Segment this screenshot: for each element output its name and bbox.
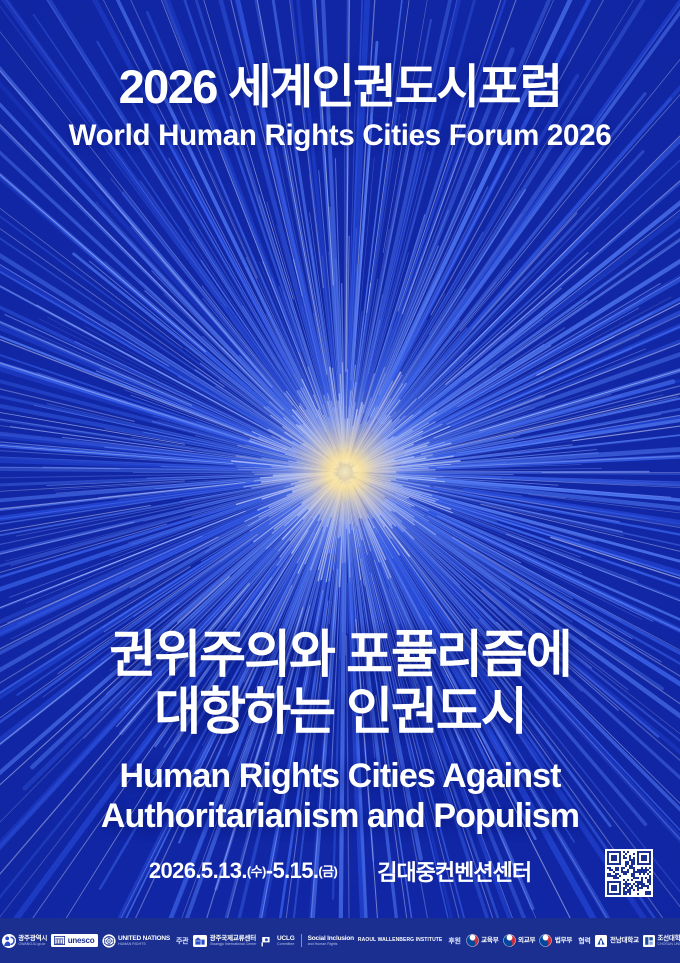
- logo-text-uclg-committee: UCLGCommittee: [277, 935, 295, 946]
- logo-group-label: 후원: [448, 936, 460, 946]
- logo-text-uclg-partner: Social Inclusionand Human Rights: [308, 935, 354, 946]
- theme-ko-line-1: 권위주의와 포퓰리즘에: [0, 627, 680, 684]
- logo-chonnam-national-university[interactable]: 전남대학교: [595, 935, 638, 947]
- taegeuk-icon: [539, 934, 552, 947]
- logo-uclg-committee[interactable]: UCLGCommittee: [261, 934, 295, 948]
- poster-canvas: 2026 세계인권도시포럼 World Human Rights Cities …: [0, 0, 680, 963]
- date-start: 2026.5.13.: [149, 858, 247, 883]
- uclg-icon: [261, 934, 275, 948]
- logo-gwangju-metropolitan-city[interactable]: 광주광역시GWANGJU.go.kr: [2, 934, 47, 948]
- event-venue: 김대중컨벤션센터: [377, 855, 531, 887]
- logo-subtext-gwangju-metropolitan-city: GWANGJU.go.kr: [18, 942, 47, 946]
- logo-chosun-university[interactable]: 조선대학교CHOSUN UNIVERSITY: [643, 935, 680, 947]
- logo-gwangju-international-center[interactable]: 광주국제교류센터Gwangju International Center: [193, 934, 256, 948]
- logo-group-label: 주관: [176, 936, 188, 946]
- logo-uclg-partner[interactable]: Social Inclusionand Human Rights: [308, 935, 354, 946]
- logo-text-chosun-university: 조선대학교CHOSUN UNIVERSITY: [657, 935, 680, 946]
- logo-subtext-uclg-partner: and Human Rights: [308, 942, 354, 946]
- logo-text-gwangju-international-center: 광주국제교류센터Gwangju International Center: [210, 935, 257, 946]
- logo-text-unesco: unesco: [68, 936, 95, 945]
- logo-un-human-rights[interactable]: UNITED NATIONSHUMAN RIGHTS: [102, 934, 170, 948]
- gic-icon: [193, 934, 207, 948]
- theme-ko-line-2: 대항하는 인권도시: [0, 684, 680, 741]
- date-start-dayofweek: (수): [247, 864, 266, 879]
- logo-subtext-gwangju-international-center: Gwangju International Center: [210, 942, 257, 946]
- logo-divider: [301, 934, 302, 947]
- logo-group-주관: 주관광주국제교류센터Gwangju International CenterUC…: [176, 934, 442, 948]
- date-end-dayofweek: (금): [318, 864, 337, 879]
- chosun-icon: [643, 935, 655, 947]
- theme-title-ko: 권위주의와 포퓰리즘에 대항하는 인권도시: [0, 627, 680, 740]
- logo-ministry-of-education[interactable]: 교육부: [466, 934, 499, 947]
- taegeuk-icon: [466, 934, 479, 947]
- logo-group-주최: 주최광주광역시GWANGJU.go.krunescoUNITED NATIONS…: [0, 934, 170, 948]
- logo-ministry-of-justice[interactable]: 법무부: [539, 934, 572, 947]
- logo-subtext-chosun-university: CHOSUN UNIVERSITY: [657, 942, 680, 946]
- theme-title-en: Human Rights Cities Against Authoritaria…: [0, 757, 680, 837]
- theme-en-line-1: Human Rights Cities Against: [0, 757, 680, 797]
- logo-group-후원: 후원교육부외교부법무부: [448, 934, 572, 947]
- logo-ministry-of-foreign-affairs[interactable]: 외교부: [503, 934, 536, 947]
- date-end: 5.15.: [272, 858, 318, 883]
- event-date: 2026.5.13.(수)-5.15.(금): [149, 858, 337, 884]
- logo-text-ministry-of-justice: 법무부: [555, 937, 572, 944]
- page-title-en: World Human Rights Cities Forum 2026: [0, 120, 680, 152]
- taegeuk-icon: [503, 934, 516, 947]
- logo-text-chonnam-national-university: 전남대학교: [610, 937, 639, 944]
- event-info-row: 2026.5.13.(수)-5.15.(금) 김대중컨벤션센터: [0, 853, 680, 889]
- cnu-icon: [595, 935, 607, 947]
- qr-code-image: [607, 851, 651, 895]
- unesco-temple-icon: [54, 936, 65, 945]
- page-title-ko: 2026 세계인권도시포럼: [0, 62, 680, 112]
- logo-text-ministry-of-education: 교육부: [481, 937, 498, 944]
- logo-text-gwangju-metropolitan-city: 광주광역시GWANGJU.go.kr: [18, 935, 47, 946]
- partner-logo-bar: 주최광주광역시GWANGJU.go.krunescoUNITED NATIONS…: [0, 918, 680, 963]
- theme-en-line-2: Authoritarianism and Populism: [0, 797, 680, 837]
- logo-subtext-uclg-committee: Committee: [277, 942, 295, 946]
- logo-text-raoul-wallenberg-institute: RAOUL WALLENBERG INSTITUTE: [358, 937, 442, 943]
- logo-unesco[interactable]: unesco: [51, 934, 97, 947]
- poster-content: 2026 세계인권도시포럼 World Human Rights Cities …: [0, 0, 680, 963]
- logo-text-un-human-rights: UNITED NATIONSHUMAN RIGHTS: [118, 935, 170, 946]
- qr-code[interactable]: [605, 849, 653, 897]
- logo-subtext-un-human-rights: HUMAN RIGHTS: [118, 942, 170, 946]
- gwangju-icon: [2, 934, 16, 948]
- logo-text-ministry-of-foreign-affairs: 외교부: [518, 937, 535, 944]
- logo-group-label: 협력: [578, 936, 590, 946]
- un-icon: [102, 934, 116, 948]
- logo-group-협력: 협력전남대학교조선대학교CHOSUN UNIVERSITY: [578, 935, 680, 947]
- logo-raoul-wallenberg-institute[interactable]: RAOUL WALLENBERG INSTITUTE: [358, 937, 442, 943]
